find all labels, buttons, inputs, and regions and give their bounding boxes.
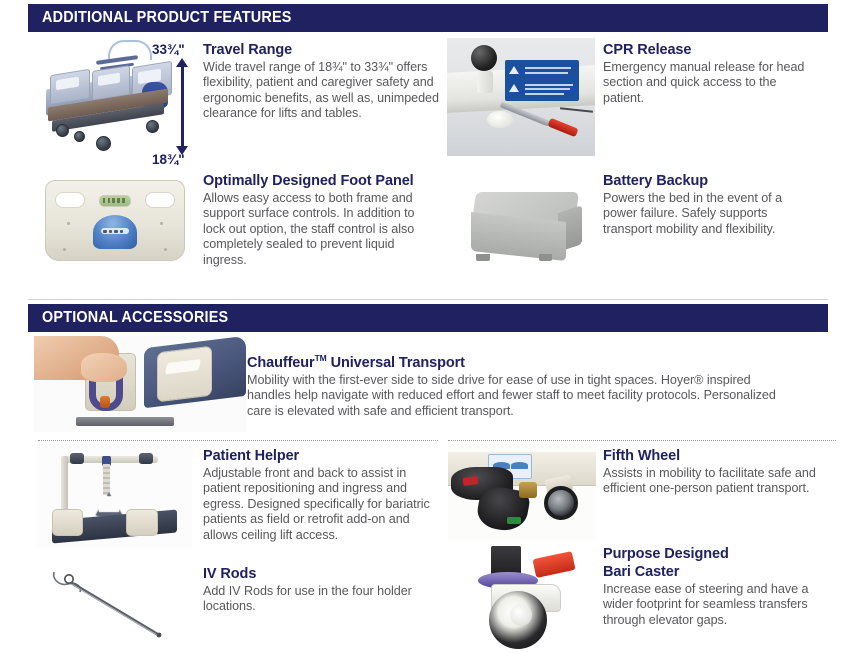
helper-clamp	[70, 453, 84, 464]
pedal-linkage-bracket	[519, 482, 537, 498]
cpr-red-handle-icon	[547, 118, 578, 138]
feature-body: Increase ease of steering and have a wid…	[603, 582, 818, 628]
caregiver-hand	[81, 353, 128, 382]
foot-panel-body	[45, 180, 184, 261]
feature-heading: Optimally Designed Foot Panel	[203, 173, 439, 190]
feature-heading: Patient Helper	[203, 448, 439, 465]
bed-caster-2	[74, 131, 85, 142]
label-text-line	[525, 84, 572, 86]
measure-bottom-label: 18¾"	[152, 152, 185, 167]
caster-brake-pedal-icon	[533, 551, 576, 578]
arrow-shaft	[181, 66, 184, 148]
section-title: OPTIONAL ACCESSORIES	[42, 309, 228, 327]
product-brochure-page: ADDITIONAL PRODUCT FEATURES 33¾" 18¾" Tr	[0, 0, 842, 653]
label-text-line	[525, 88, 569, 90]
bed-caster-1	[56, 124, 69, 137]
feature-patient-helper: Patient Helper Adjustable front and back…	[203, 448, 439, 543]
bed-side-rail-left	[52, 509, 83, 536]
battery-backup-photo	[460, 178, 596, 276]
rail-slot	[165, 359, 201, 374]
warning-triangle-icon	[509, 84, 519, 92]
patient-helper-photo	[36, 444, 192, 548]
feature-body: Assists in mobility to facilitate safe a…	[603, 466, 818, 497]
feature-heading-line-1: Purpose Designed	[603, 546, 818, 563]
lcd-segment	[122, 198, 125, 203]
feature-cpr-release: CPR Release Emergency manual release for…	[603, 42, 818, 106]
measure-top-label: 33¾"	[152, 42, 185, 57]
cpr-black-knob-icon	[471, 45, 497, 71]
section-divider-rule	[28, 299, 828, 300]
bed-side-rail	[157, 346, 212, 403]
bed-caster-3	[96, 136, 111, 151]
foot-panel-control-pod	[93, 215, 137, 250]
section-header-additional-product-features: ADDITIONAL PRODUCT FEATURES	[28, 4, 828, 32]
feature-heading: Battery Backup	[603, 173, 818, 190]
bed-side-rail-right	[126, 509, 157, 536]
label-text-line	[525, 93, 563, 95]
pedal-red-marker	[462, 476, 478, 486]
feature-body: Mobility with the first-ever side to sid…	[247, 373, 777, 419]
feature-heading: ChauffeurTM Universal Transport	[247, 350, 777, 372]
foot-panel-lcd-display	[99, 195, 132, 207]
bari-caster-photo	[462, 544, 596, 650]
hospital-bed-photo	[34, 38, 184, 168]
heading-main: Chauffeur	[247, 355, 315, 371]
panel-screw	[160, 222, 163, 225]
lcd-segment	[103, 198, 106, 203]
battery-foot	[476, 254, 490, 261]
feature-battery-backup: Battery Backup Powers the bed in the eve…	[603, 173, 818, 237]
dotted-divider-right	[448, 440, 836, 441]
cpr-release-photo	[447, 38, 595, 156]
control-button	[109, 230, 112, 233]
feature-iv-rods: IV Rods Add IV Rods for use in the four …	[203, 566, 439, 615]
cpr-release-disc	[487, 111, 513, 128]
label-text-line	[525, 72, 568, 74]
panel-screw	[164, 248, 167, 251]
rail-slot	[98, 73, 120, 86]
trademark-symbol: TM	[315, 353, 327, 363]
dotted-divider-left	[38, 440, 438, 441]
rail-slot	[56, 77, 79, 91]
iv-rods-photo	[38, 558, 188, 646]
feature-body: Wide travel range of 18¾" to 33¾" offers…	[203, 60, 439, 122]
battery-foot	[539, 254, 553, 261]
feature-heading: Fifth Wheel	[603, 448, 818, 465]
control-button	[120, 230, 123, 233]
fifth-wheel-photo	[448, 444, 596, 540]
foot-panel-button-bar	[101, 228, 129, 234]
handle-release-trigger	[100, 396, 110, 408]
feature-heading: Travel Range	[203, 42, 439, 59]
feature-travel-range: Travel Range Wide travel range of 18¾" t…	[203, 42, 439, 122]
feature-body: Adjustable front and back to assist in p…	[203, 466, 439, 543]
pedal-green-marker	[507, 517, 520, 524]
section-title: ADDITIONAL PRODUCT FEATURES	[42, 9, 292, 27]
cpr-warning-label	[505, 60, 579, 100]
control-button	[114, 230, 117, 233]
feature-body: Allows easy access to both frame and sup…	[203, 191, 439, 268]
fifth-wheel-roller	[544, 486, 578, 520]
foot-panel-grip-left	[55, 192, 85, 208]
feature-heading: IV Rods	[203, 566, 439, 583]
lcd-segment	[117, 198, 120, 203]
section-header-optional-accessories: OPTIONAL ACCESSORIES	[28, 304, 828, 332]
feature-heading-line-2: Bari Caster	[603, 564, 818, 581]
bed-caster-4	[146, 120, 159, 133]
cable-wire	[559, 107, 592, 112]
helper-clamp	[139, 453, 153, 464]
chauffeur-transport-photo	[34, 336, 246, 432]
label-pictogram-right	[511, 462, 528, 468]
feature-body: Emergency manual release for head sectio…	[603, 60, 818, 106]
cpr-knob-stem	[477, 71, 493, 93]
iv-rod-drawing-icon	[38, 558, 188, 646]
feature-chauffeur-universal-transport: ChauffeurTM Universal Transport Mobility…	[247, 350, 777, 419]
lcd-segment	[108, 198, 111, 203]
heading-rest: Universal Transport	[327, 355, 465, 371]
feature-heading: CPR Release	[603, 42, 818, 59]
feature-body: Powers the bed in the event of a power f…	[603, 191, 818, 237]
lcd-segment	[112, 198, 115, 203]
control-button	[103, 230, 106, 233]
panel-screw	[67, 222, 70, 225]
warning-triangle-icon	[509, 66, 519, 74]
feature-fifth-wheel: Fifth Wheel Assists in mobility to facil…	[603, 448, 818, 497]
helper-adjustable-strap	[103, 464, 110, 495]
foot-panel-photo	[36, 172, 194, 276]
feature-optimally-designed-foot-panel: Optimally Designed Foot Panel Allows eas…	[203, 173, 439, 268]
label-text-line	[525, 67, 571, 69]
bed-side-rail-left	[50, 69, 90, 105]
helper-triangle-handle-icon	[95, 492, 124, 516]
foot-panel-grip-right	[145, 192, 175, 208]
feature-purpose-designed-bari-caster: Purpose Designed Bari Caster Increase ea…	[603, 546, 818, 628]
feature-body: Add IV Rods for use in the four holder l…	[203, 584, 439, 615]
bed-base-frame	[76, 417, 174, 427]
panel-screw	[63, 248, 66, 251]
